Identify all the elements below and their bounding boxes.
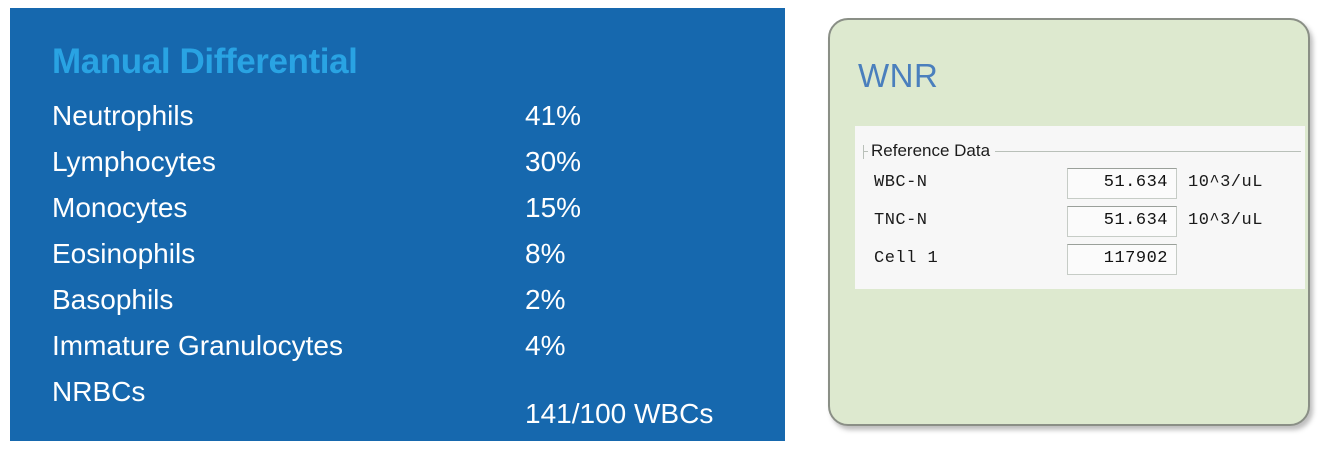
diff-label-monocytes: Monocytes (52, 188, 187, 228)
list-item: Basophils 2% (52, 280, 752, 326)
list-item: Lymphocytes 30% (52, 142, 752, 188)
fieldset-corner-tick (863, 145, 864, 159)
reference-label-tnc-n: TNC-N (874, 211, 928, 230)
diff-label-nrbcs: NRBCs (52, 372, 145, 412)
reference-label-wbc-n: WBC-N (874, 173, 928, 192)
diff-label-lymphocytes: Lymphocytes (52, 142, 216, 182)
table-row: Cell 1 117902 (868, 244, 1301, 282)
reference-field-tnc-n[interactable]: 51.634 (1067, 206, 1177, 237)
reference-data-panel: Reference Data WBC-N 51.634 10^3/uL TNC-… (855, 126, 1305, 289)
screenshot-root: Manual Differential Neutrophils 41% Lymp… (0, 0, 1342, 450)
manual-differential-title: Manual Differential (52, 42, 358, 82)
list-item: Neutrophils 41% (52, 96, 752, 142)
diff-label-basophils: Basophils (52, 280, 173, 320)
reference-unit-wbc-n: 10^3/uL (1188, 173, 1263, 192)
diff-label-immature-granulocytes: Immature Granulocytes (52, 326, 343, 366)
diff-label-eosinophils: Eosinophils (52, 234, 195, 274)
manual-differential-list: Neutrophils 41% Lymphocytes 30% Monocyte… (52, 96, 752, 418)
diff-value-neutrophils: 41% (525, 96, 581, 136)
list-item: Immature Granulocytes 4% (52, 326, 752, 372)
list-item: Monocytes 15% (52, 188, 752, 234)
reference-data-legend: Reference Data (868, 140, 995, 161)
diff-value-nrbcs: 141/100 WBCs (525, 394, 713, 434)
manual-differential-panel: Manual Differential Neutrophils 41% Lymp… (10, 8, 785, 441)
reference-field-wbc-n[interactable]: 51.634 (1067, 168, 1177, 199)
diff-value-basophils: 2% (525, 280, 565, 320)
reference-data-fieldset: Reference Data WBC-N 51.634 10^3/uL TNC-… (863, 140, 1301, 281)
reference-label-cell-1: Cell 1 (874, 249, 938, 268)
reference-field-cell-1[interactable]: 117902 (1067, 244, 1177, 275)
wnr-title: WNR (858, 59, 938, 92)
list-item: Eosinophils 8% (52, 234, 752, 280)
reference-data-rows: WBC-N 51.634 10^3/uL TNC-N 51.634 10^3/u… (868, 168, 1301, 282)
diff-label-neutrophils: Neutrophils (52, 96, 194, 136)
diff-value-monocytes: 15% (525, 188, 581, 228)
list-item: NRBCs 141/100 WBCs (52, 372, 752, 418)
reference-unit-tnc-n: 10^3/uL (1188, 211, 1263, 230)
diff-value-eosinophils: 8% (525, 234, 565, 274)
diff-value-lymphocytes: 30% (525, 142, 581, 182)
diff-value-immature-granulocytes: 4% (525, 326, 565, 366)
table-row: WBC-N 51.634 10^3/uL (868, 168, 1301, 206)
wnr-card: WNR Reference Data WBC-N 51.634 10^3/uL … (828, 18, 1310, 426)
table-row: TNC-N 51.634 10^3/uL (868, 206, 1301, 244)
